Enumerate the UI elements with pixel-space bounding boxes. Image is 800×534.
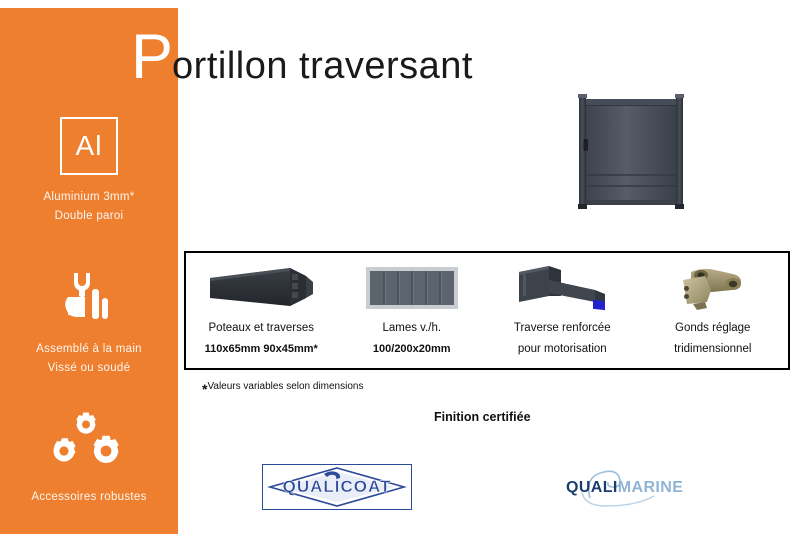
component-item-posts: Poteaux et traverses 110x65mm 90x45mm* [186,253,337,368]
post-profile-icon [206,260,316,315]
qualimarine-logo: QUALIMARINE [560,466,710,508]
component-item-hinge: Gonds réglage tridimensionnel [638,253,789,368]
component-spec-hinge: tridimensionnel [674,342,751,358]
qualicoat-logo: QUALICOAT [262,464,412,510]
footnote: *Valeurs variables selon dimensions [202,381,363,395]
component-label-hinge: Gonds réglage [675,321,750,337]
qualicoat-logo-text: QUALICOAT [283,477,392,497]
page-title-rest: ortillon traversant [172,45,473,87]
feature-accessories-line1: Accessoires robustes [0,488,178,507]
component-spec-posts: 110x65mm 90x45mm* [205,342,318,357]
hinge-icon [667,260,759,315]
component-item-crossbar: Traverse renforcée pour motorisation [487,253,638,368]
feature-aluminium: Al Aluminium 3mm* Double paroi [0,104,178,226]
feature-assembly-line1: Assemblé à la main [0,340,178,359]
slide-canvas: Al Aluminium 3mm* Double paroi [0,0,800,534]
component-spec-crossbar: pour motorisation [518,342,607,358]
feature-aluminium-line1: Aluminium 3mm* [0,188,178,207]
qualimarine-logo-text-light: MARINE [618,479,684,496]
certification-heading: Finition certifiée [434,410,531,424]
component-item-slats: Lames v./h. 100/200x20mm [337,253,488,368]
feature-assembly: Assemblé à la main Vissé ou soudé [0,256,178,378]
component-label-posts: Poteaux et traverses [209,321,314,337]
reinforced-crossbar-icon [509,260,615,315]
component-label-slats: Lames v./h. [382,321,441,337]
component-spec-slats: 100/200x20mm [373,342,451,357]
component-label-crossbar: Traverse renforcée [514,321,611,337]
feature-aluminium-line2: Double paroi [0,207,178,226]
footnote-asterisk: * [202,381,207,397]
page-title-capital: P [131,22,172,92]
slats-panel-icon [364,260,460,315]
feature-assembly-line2: Vissé ou soudé [0,359,178,378]
aluminium-symbol-text: Al [76,132,103,160]
qualimarine-logo-text-bold: QUALI [566,479,618,496]
gears-icon [0,404,178,488]
portillon-gate-photo [566,82,696,219]
aluminium-square-icon: Al [0,104,178,188]
page-title: Portillon traversant [131,26,473,89]
components-panel: Poteaux et traverses 110x65mm 90x45mm* [184,251,790,370]
footnote-text: Valeurs variables selon dimensions [207,381,363,392]
hand-wrench-icon [0,256,178,340]
feature-accessories: Accessoires robustes [0,404,178,507]
